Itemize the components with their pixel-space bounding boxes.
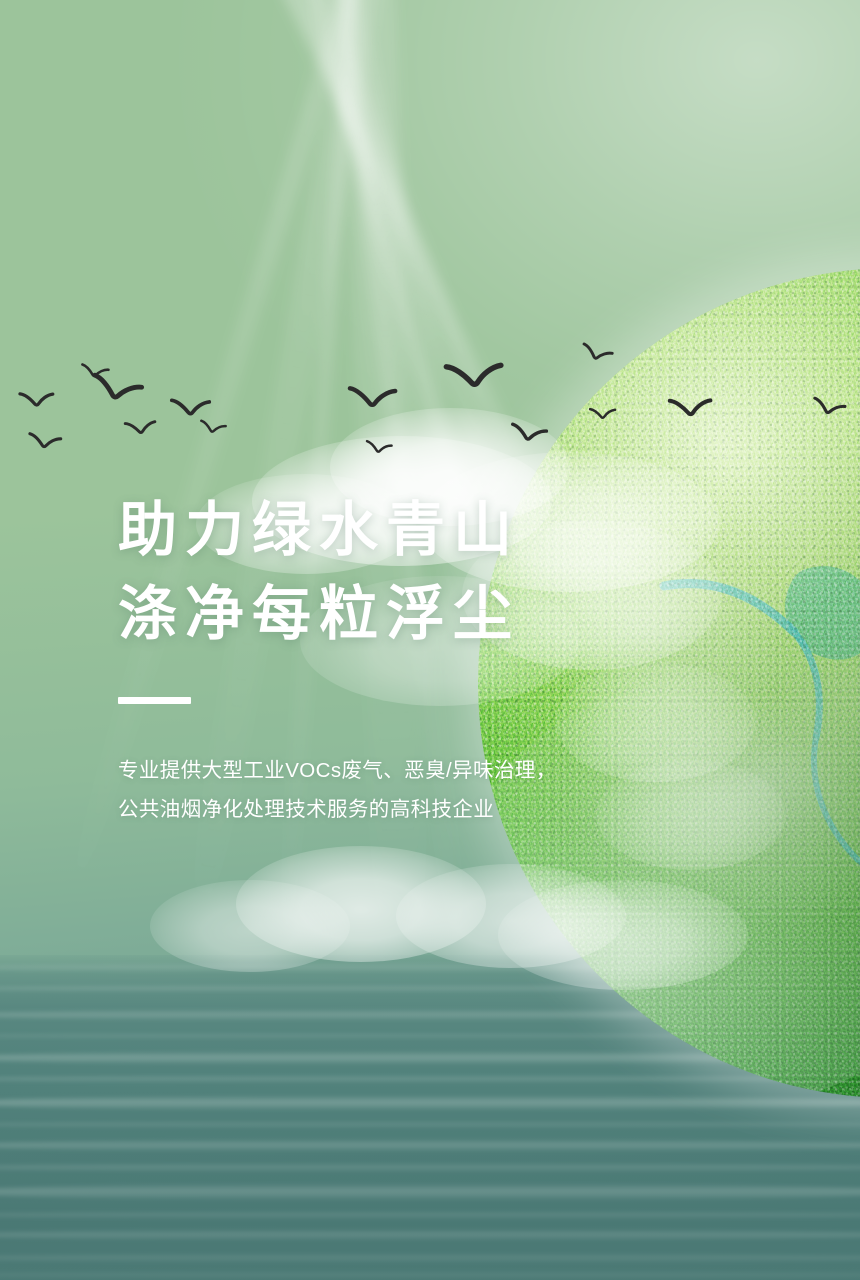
poster-copy: 助力绿水青山 涤净每粒浮尘 专业提供大型工业VOCs废气、恶臭/异味治理， 公共… <box>118 488 758 828</box>
cloud-7 <box>236 846 486 962</box>
bird-icon <box>27 431 62 453</box>
water-ripple-10 <box>0 1163 860 1172</box>
water-ripple-13 <box>0 1229 860 1241</box>
water-ripple-14 <box>0 1253 860 1263</box>
water-ripple-8 <box>0 1121 860 1128</box>
bird-icon <box>170 395 212 422</box>
bird-icon <box>18 388 56 413</box>
bird-icon <box>365 439 393 457</box>
bird-icon <box>89 371 146 409</box>
bird-icon <box>199 419 228 438</box>
water-ripple-11 <box>0 1183 860 1201</box>
water-ripple-15 <box>0 1271 860 1279</box>
headline-line-2: 涤净每粒浮尘 <box>118 572 758 656</box>
poster-root: 助力绿水青山 涤净每粒浮尘 专业提供大型工业VOCs废气、恶臭/异味治理， 公共… <box>0 0 860 1280</box>
bird-icon <box>348 382 399 414</box>
headline-divider <box>118 697 191 704</box>
subtitle-line-1: 专业提供大型工业VOCs废气、恶臭/异味治理， <box>118 752 758 789</box>
water-ripple-9 <box>0 1139 860 1152</box>
water-ripple-12 <box>0 1211 860 1219</box>
bird-icon <box>80 362 110 381</box>
bird-icon <box>123 416 158 440</box>
subtitle-line-2: 公共油烟净化处理技术服务的高科技企业 <box>118 791 758 828</box>
headline-line-1: 助力绿水青山 <box>118 488 758 572</box>
